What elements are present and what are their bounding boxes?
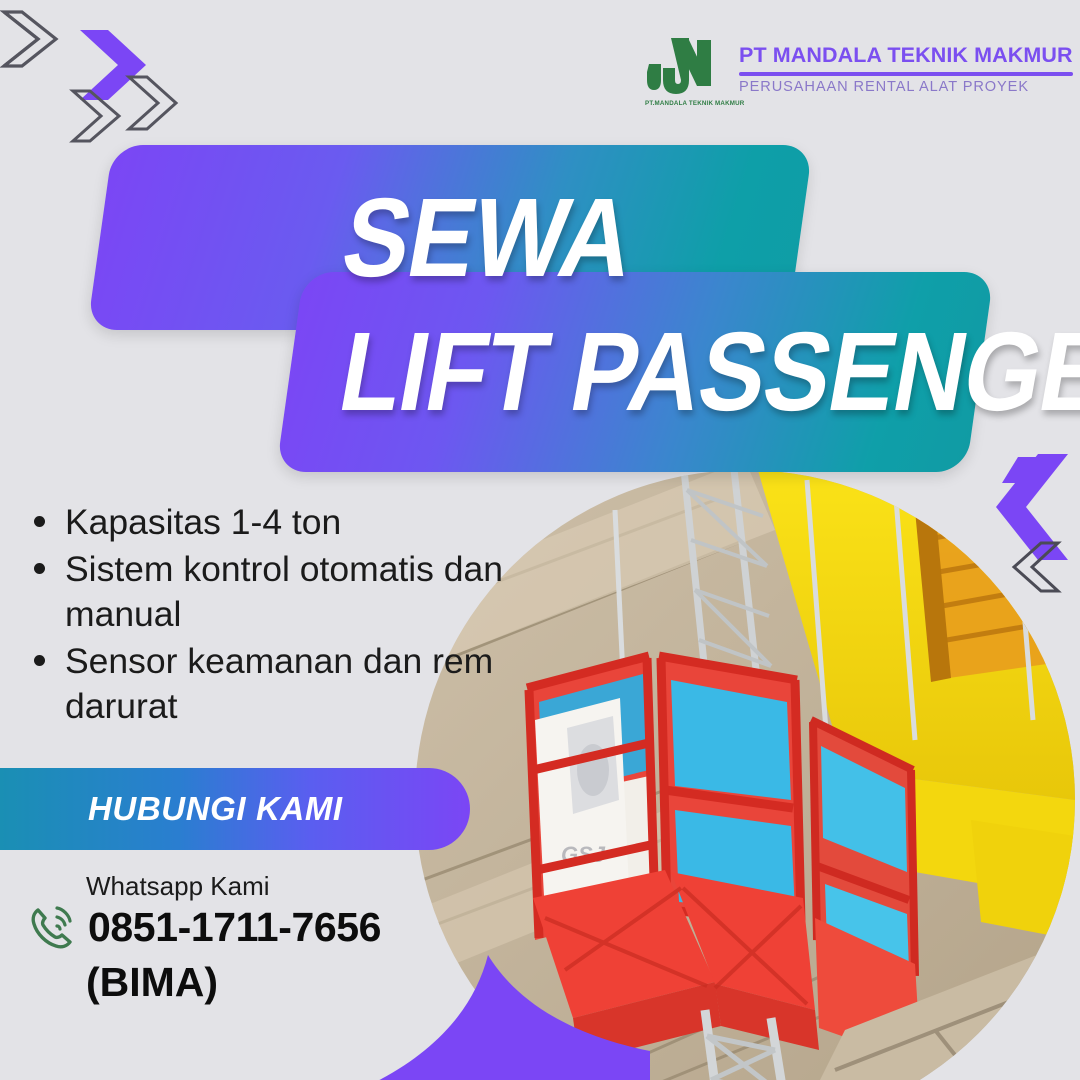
list-item: Kapasitas 1-4 ton bbox=[22, 500, 582, 545]
bullet-dot-icon bbox=[34, 563, 45, 574]
bullet-dot-icon bbox=[34, 655, 45, 666]
chevron-outline-icon bbox=[68, 88, 124, 144]
brand-header: PT.MANDALA TEKNIK MAKMUR PT MANDALA TEKN… bbox=[645, 30, 1065, 110]
logo-caption: PT.MANDALA TEKNIK MAKMUR bbox=[645, 100, 727, 107]
poster-canvas: PT.MANDALA TEKNIK MAKMUR PT MANDALA TEKN… bbox=[0, 0, 1080, 1080]
headline-banner-secondary: LIFT PASSENGER bbox=[290, 272, 980, 472]
company-name: PT MANDALA TEKNIK MAKMUR bbox=[739, 45, 1073, 67]
company-tagline: PERUSAHAAN RENTAL ALAT PROYEK bbox=[739, 80, 1073, 95]
phone-call-icon bbox=[24, 900, 80, 956]
cta-label: HUBUNGI KAMI bbox=[88, 790, 343, 828]
bullet-dot-icon bbox=[34, 516, 45, 527]
chevron-outline-icon bbox=[124, 74, 182, 132]
petal-decoration bbox=[320, 955, 650, 1080]
feature-text: Sistem kontrol otomatis dan manual bbox=[65, 547, 582, 637]
whatsapp-label: Whatsapp Kami bbox=[86, 872, 454, 902]
headline-line1: SEWA bbox=[336, 186, 641, 289]
feature-list: Kapasitas 1-4 ton Sistem kontrol otomati… bbox=[22, 500, 582, 731]
list-item: Sistem kontrol otomatis dan manual bbox=[22, 547, 582, 637]
header-divider bbox=[739, 72, 1073, 76]
chevron-outline-icon bbox=[1010, 540, 1064, 594]
headline-line2: LIFT PASSENGER bbox=[333, 320, 1080, 423]
feature-text: Sensor keamanan dan rem darurat bbox=[65, 639, 582, 729]
chevron-outline-icon bbox=[0, 8, 60, 70]
contact-cta-badge[interactable]: HUBUNGI KAMI bbox=[0, 768, 470, 850]
feature-text: Kapasitas 1-4 ton bbox=[65, 500, 341, 545]
phone-number[interactable]: 0851-1711-7656 bbox=[88, 905, 381, 950]
list-item: Sensor keamanan dan rem darurat bbox=[22, 639, 582, 729]
mandala-m-monogram-icon: PT.MANDALA TEKNIK MAKMUR bbox=[645, 34, 727, 106]
accent-parallelogram bbox=[1000, 455, 1060, 485]
